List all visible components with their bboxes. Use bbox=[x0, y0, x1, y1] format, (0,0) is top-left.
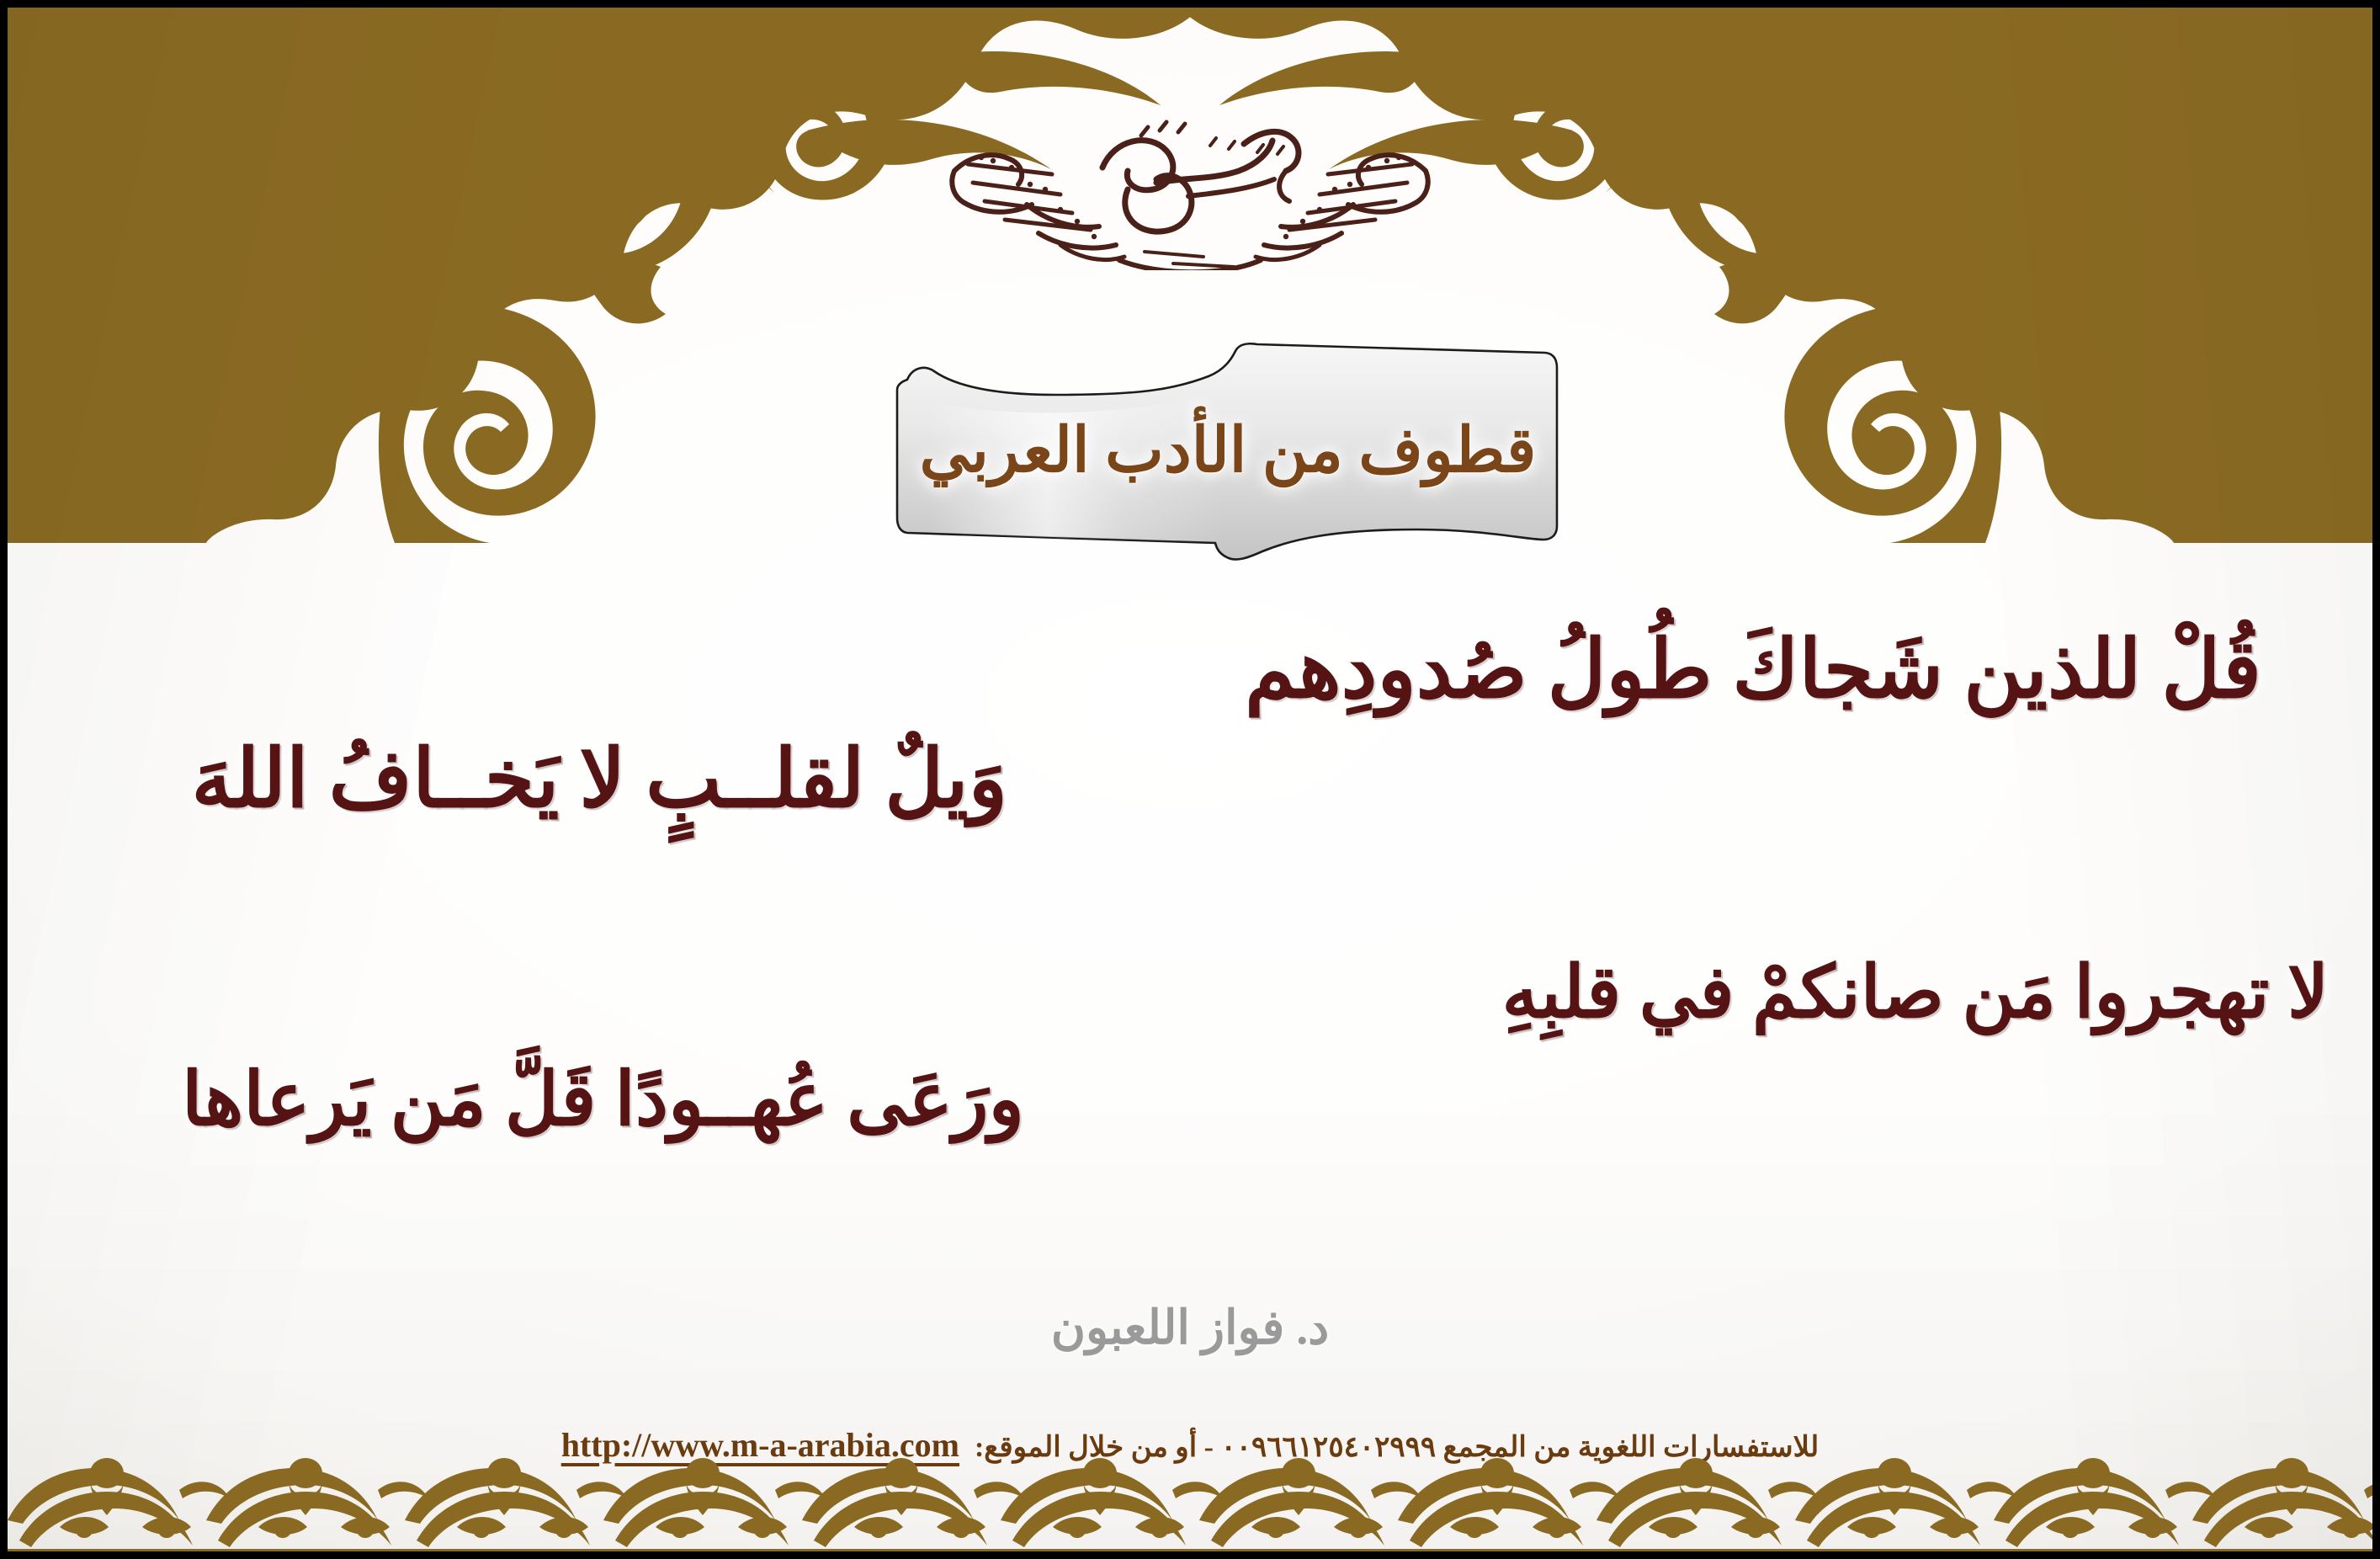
verse-line-1: قُلْ للذين شَجاكَ طُولُ صُدودِهم bbox=[1245, 622, 2261, 716]
academy-website-link[interactable]: http://www.m-a-arabia.com bbox=[561, 1425, 959, 1465]
verse-line-4: ورَعَى عُهــودًا قَلَّ مَن يَرعاها bbox=[182, 1056, 1024, 1143]
footer-contact-text: للاستفسارات اللغوية من المجمع ٠٠٩٦٦١٢٥٤٠… bbox=[975, 1430, 1819, 1464]
verse-line-3: لا تهجروا مَن صانكمْ في قلبِهِ bbox=[1502, 950, 2329, 1035]
title-ribbon: قطوف من الأدب العربي bbox=[895, 343, 1560, 566]
academy-logo bbox=[904, 102, 1476, 270]
verse-line-2: وَيلٌ لقلــبٍ لا يَخــافُ اللهَ bbox=[191, 732, 1007, 826]
footer-contact: للاستفسارات اللغوية من المجمع ٠٠٩٦٦١٢٥٤٠… bbox=[8, 1425, 2372, 1465]
poster-canvas: قطوف من الأدب العربي قُلْ للذين شَجاكَ ط… bbox=[0, 0, 2380, 1559]
poem-body: قُلْ للذين شَجاكَ طُولُ صُدودِهم وَيلٌ ل… bbox=[8, 597, 2380, 1287]
author-attribution: د. فواز اللعبون bbox=[8, 1301, 2372, 1355]
